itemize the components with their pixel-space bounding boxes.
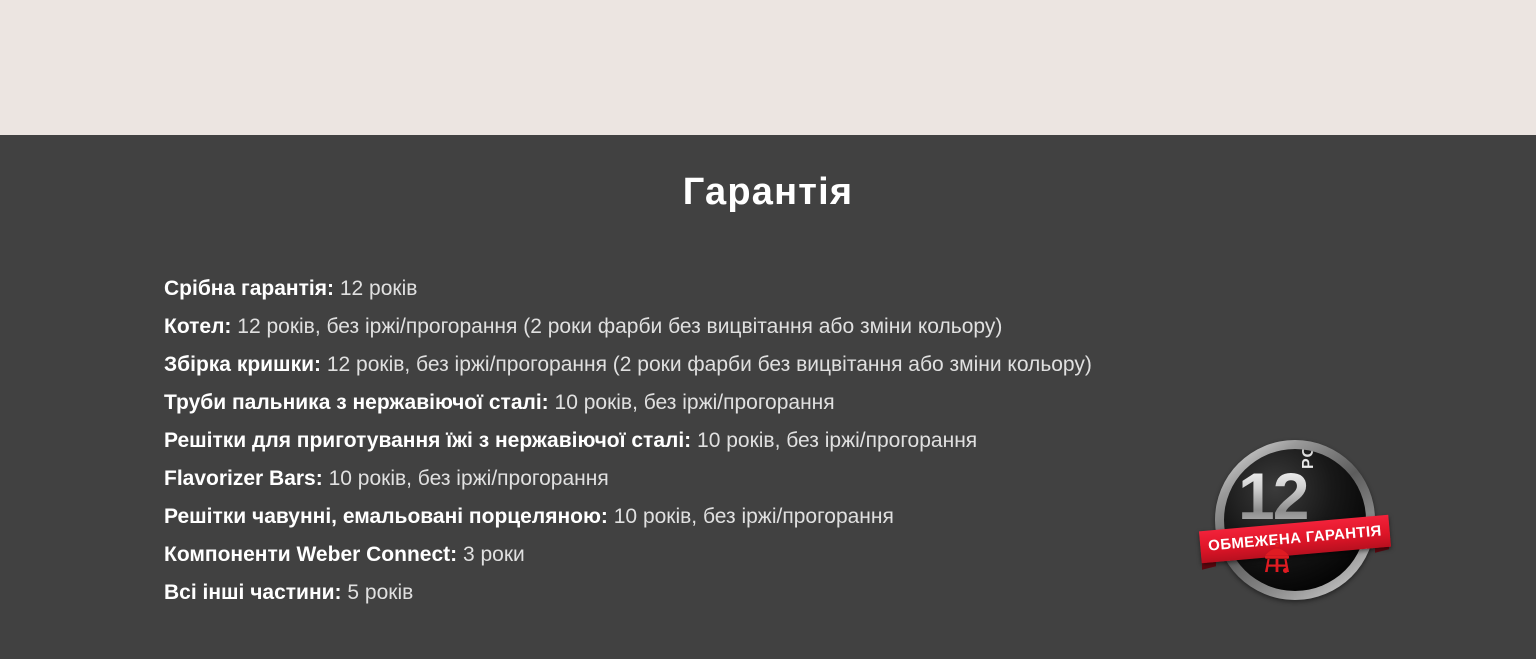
warranty-value: 12 років, без іржі/прогорання (2 роки фа… (237, 315, 1002, 338)
list-item: Решітки чавунні, емальовані порцеляною: … (164, 498, 1164, 536)
warranty-label: Всі інші частини: (164, 581, 342, 604)
warranty-value: 3 роки (463, 543, 525, 566)
warranty-label: Решітки для приготування їжі з нержавіюч… (164, 429, 691, 452)
warranty-value: 10 років, без іржі/прогорання (555, 391, 835, 414)
warranty-label: Компоненти Weber Connect: (164, 543, 457, 566)
warranty-label: Flavorizer Bars: (164, 467, 323, 490)
weber-kettle-grill-icon (1263, 543, 1291, 573)
list-item: Срібна гарантія: 12 років (164, 270, 1164, 308)
list-item: Труби пальника з нержавіючої сталі: 10 р… (164, 384, 1164, 422)
badge-years-number: 12 (1238, 463, 1307, 529)
warranty-label: Решітки чавунні, емальовані порцеляною: (164, 505, 608, 528)
warranty-value: 10 років, без іржі/прогорання (329, 467, 609, 490)
page-title: Гарантія (0, 171, 1536, 214)
list-item: Котел: 12 років, без іржі/прогорання (2 … (164, 308, 1164, 346)
list-item: Компоненти Weber Connect: 3 роки (164, 536, 1164, 574)
warranty-label: Срібна гарантія: (164, 277, 334, 300)
top-band (0, 0, 1536, 135)
badge-years-label: РОКІВ (1300, 449, 1318, 469)
warranty-value: 10 років, без іржі/прогорання (614, 505, 894, 528)
warranty-label: Котел: (164, 315, 231, 338)
limited-warranty-badge: 12 РОКІВ ОБМЕЖЕНА ГАРАНТІЯ (1205, 435, 1385, 613)
list-item: Всі інші частини: 5 років (164, 574, 1164, 612)
warranty-value: 12 років, без іржі/прогорання (2 роки фа… (327, 353, 1092, 376)
warranty-value: 5 років (347, 581, 413, 604)
warranty-list: Срібна гарантія: 12 років Котел: 12 рокі… (164, 270, 1164, 612)
warranty-label: Збірка кришки: (164, 353, 321, 376)
warranty-page: Гарантія Срібна гарантія: 12 років Котел… (0, 0, 1536, 659)
warranty-section: Гарантія Срібна гарантія: 12 років Котел… (0, 135, 1536, 659)
warranty-value: 12 років (340, 277, 418, 300)
list-item: Збірка кришки: 12 років, без іржі/прогор… (164, 346, 1164, 384)
list-item: Flavorizer Bars: 10 років, без іржі/прог… (164, 460, 1164, 498)
warranty-value: 10 років, без іржі/прогорання (697, 429, 977, 452)
warranty-label: Труби пальника з нержавіючої сталі: (164, 391, 549, 414)
list-item: Решітки для приготування їжі з нержавіюч… (164, 422, 1164, 460)
